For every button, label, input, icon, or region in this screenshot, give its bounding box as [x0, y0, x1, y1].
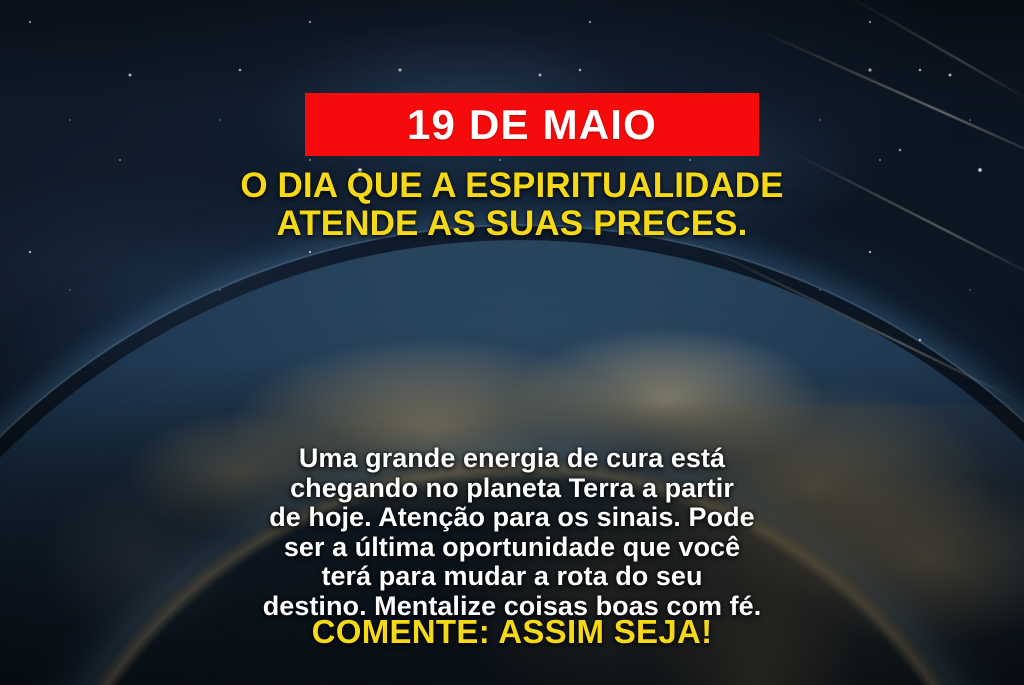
body-paragraph: Uma grande energia de cura está chegando… — [40, 444, 984, 621]
body-line-1: Uma grande energia de cura está — [40, 444, 984, 474]
body-line-3: de hoje. Atenção para os sinais. Pode — [40, 503, 984, 533]
headline: O DIA QUE A ESPIRITUALIDADE ATENDE AS SU… — [0, 167, 1024, 243]
body-line-4: ser a última oportunidade que você — [40, 533, 984, 563]
headline-line-2: ATENDE AS SUAS PRECES. — [0, 205, 1024, 243]
poster-content: 19 DE MAIO O DIA QUE A ESPIRITUALIDADE A… — [0, 0, 1024, 685]
poster-canvas: 19 DE MAIO O DIA QUE A ESPIRITUALIDADE A… — [0, 0, 1024, 685]
body-line-2: chegando no planeta Terra a partir — [40, 474, 984, 504]
date-banner-text: 19 DE MAIO — [407, 104, 657, 146]
headline-line-1: O DIA QUE A ESPIRITUALIDADE — [240, 166, 783, 205]
body-line-5: terá para mudar a rota do seu — [40, 562, 984, 592]
date-banner: 19 DE MAIO — [305, 93, 759, 156]
call-to-action-text: COMENTE: ASSIM SEJA! — [0, 613, 1024, 651]
